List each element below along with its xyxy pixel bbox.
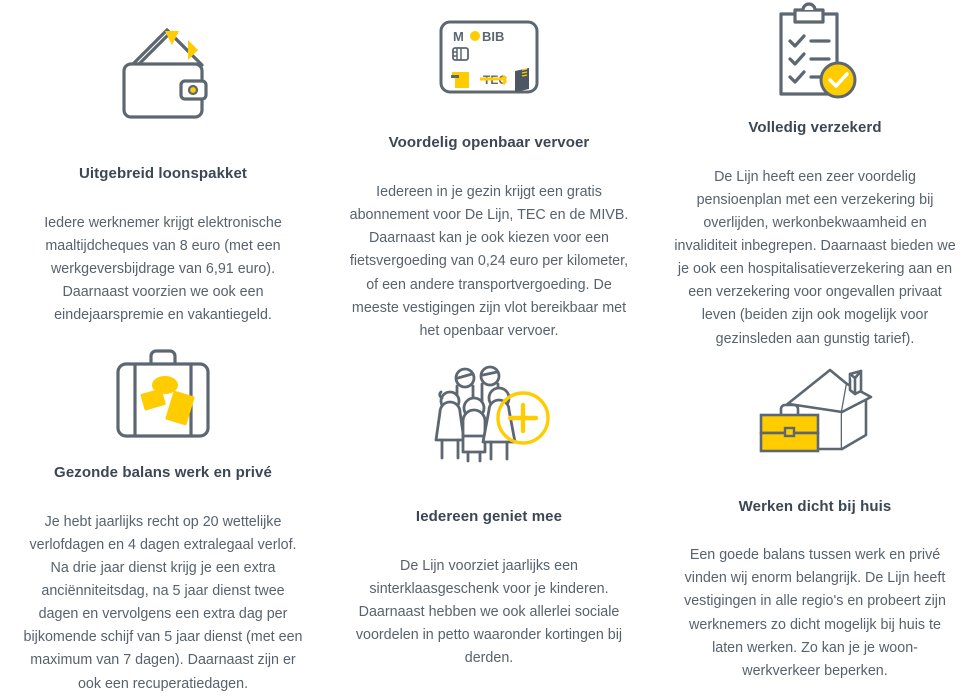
svg-text:M: M <box>453 29 464 44</box>
clipboard-check-icon <box>674 0 956 104</box>
benefit-body: De Lijn heeft een zeer voordelig pensioe… <box>674 166 956 351</box>
benefit-card-werken-dicht-bij-huis: Werken dicht bij huis Een goede balans t… <box>652 343 978 683</box>
svg-text:BIB: BIB <box>482 29 504 44</box>
family-plus-icon <box>348 343 630 491</box>
benefit-card-volledig-verzekerd: Volledig verzekerd De Lijn heeft een zee… <box>652 0 978 343</box>
benefit-title: Iedereen geniet mee <box>416 507 562 527</box>
benefit-body: Je hebt jaarlijks recht op 20 wettelijke… <box>22 511 304 696</box>
benefit-title: Volledig verzekerd <box>748 118 881 138</box>
suitcase-icon <box>22 343 304 447</box>
benefit-card-iedereen-geniet-mee: Iedereen geniet mee De Lijn voorziet jaa… <box>326 343 652 683</box>
benefit-body: Iedereen in je gezin krijgt een gratis a… <box>348 181 630 343</box>
benefit-title: Gezonde balans werk en privé <box>54 463 272 483</box>
benefit-body: Iedere werknemer krijgt elektronische ma… <box>29 212 297 328</box>
benefit-card-voordelig-openbaar-vervoer: M BIB TEC Voordelig openbaar vervoer I <box>326 0 652 343</box>
benefits-grid: Uitgebreid loonspakket Iedere werknemer … <box>0 0 978 683</box>
benefit-title: Voordelig openbaar vervoer <box>389 133 590 153</box>
benefit-body: Een goede balans tussen werk en privé vi… <box>674 544 956 683</box>
benefit-title: Werken dicht bij huis <box>739 497 892 517</box>
mobib-card-icon: M BIB TEC <box>348 0 630 119</box>
benefit-card-uitgebreid-loonspakket: Uitgebreid loonspakket Iedere werknemer … <box>0 0 326 343</box>
wallet-icon <box>22 0 304 150</box>
benefit-title: Uitgebreid loonspakket <box>79 164 247 184</box>
benefit-body: De Lijn voorziet jaarlijks een sinterkla… <box>348 555 630 671</box>
house-briefcase-icon <box>674 343 956 481</box>
benefit-card-gezonde-balans: Gezonde balans werk en privé Je hebt jaa… <box>0 343 326 683</box>
